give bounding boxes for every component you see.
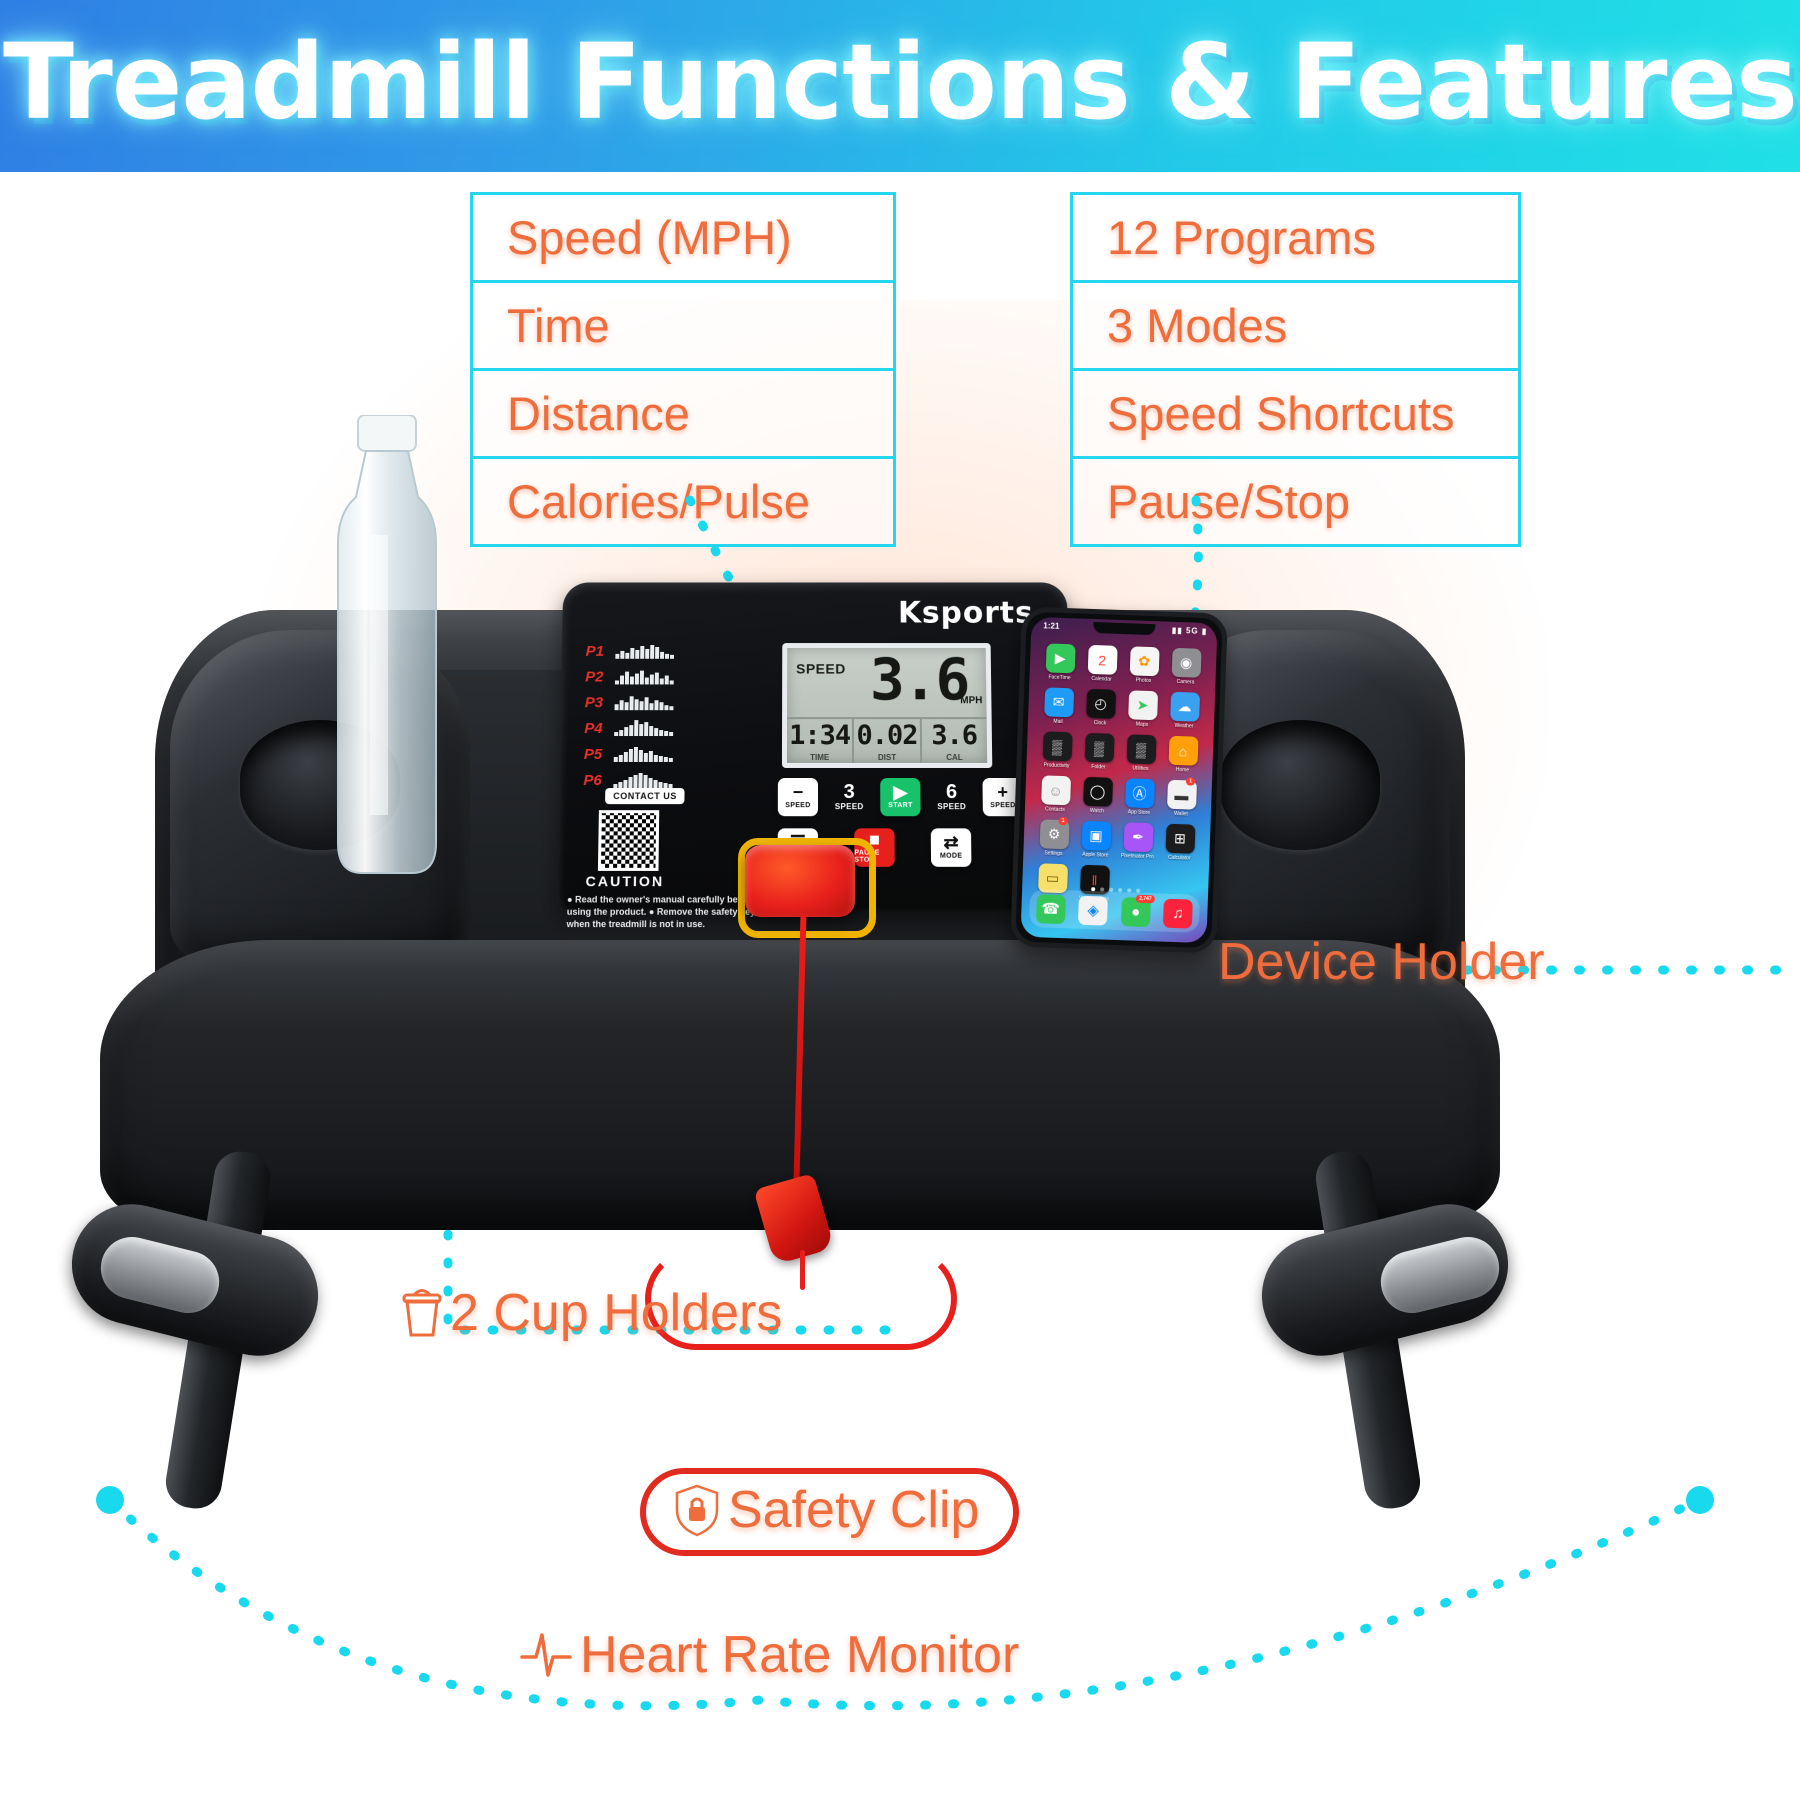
cup-holder-right [1220,720,1380,850]
app-label: Apple Store [1082,852,1108,859]
app-badge: 1 [1186,777,1195,785]
app-icon: Ⓐ [1125,778,1155,808]
minus-icon: − [793,785,804,800]
shield-lock-icon [672,1482,722,1538]
pulse-icon [518,1629,574,1681]
app-label: Photos [1136,678,1152,685]
lcd-speed-value: 3.6 [870,647,969,712]
program-row: P3 [585,690,735,714]
program-waveform-icon [614,746,673,762]
water-bottle [300,415,500,935]
phone-notch [1093,622,1155,635]
bottle-highlight [370,535,388,815]
mode-label: MODE [940,853,962,860]
speed-shortcut-6-value: 6 [946,783,957,802]
feature-row: Distance [473,371,893,459]
app-icon: ✿ [1129,646,1159,676]
speed-decrease-button[interactable]: − SPEED [778,778,818,816]
app-label: Productivity [1043,762,1069,769]
callout-device-holder: Device Holder [1218,932,1545,992]
phone-app-facetime[interactable]: ▶FaceTime [1038,643,1081,681]
caution-text: ● Read the owner's manual carefully befo… [566,893,759,930]
lcd-speed-label: SPEED [796,661,846,677]
program-row: P5 [584,742,734,766]
smartphone-device: 1:21 ▮▮ 5G ▮ ▶FaceTime2Calendar✿Photos◉C… [1010,607,1228,954]
lcd-secondary-readouts: 1:34 TIME 0.02 DIST 3.6 CAL [787,717,987,763]
phone-dock: ☎◈●2,747♫ [1029,889,1200,933]
bottle-cap [358,415,416,451]
app-label: Folder [1091,764,1105,770]
header-banner: Treadmill Functions & Features [0,0,1800,172]
program-profile-list: P1 P2 P3 P4 P5 [583,639,735,794]
phone-app-home[interactable]: ⌂Home [1161,735,1204,773]
feature-row: Speed Shortcuts [1073,371,1518,459]
program-id-label: P3 [585,694,615,711]
feature-row: Time [473,283,893,371]
program-id-label: P2 [585,668,615,685]
play-icon: ▶ [893,785,907,800]
app-icon: ▣ [1081,821,1111,851]
phone-app-watch[interactable]: ◯Watch [1076,777,1119,815]
dock-app-phone[interactable]: ☎ [1036,894,1066,924]
phone-screen: 1:21 ▮▮ 5G ▮ ▶FaceTime2Calendar✿Photos◉C… [1020,617,1217,943]
phone-app-settings[interactable]: ⚙1Settings [1032,819,1075,857]
cup-holders-label: 2 Cup Holders [450,1283,782,1343]
feature-table-right: 12 Programs 3 Modes Speed Shortcuts Paus… [1070,192,1521,547]
phone-app-wallet[interactable]: ▬1Wallet [1160,779,1203,817]
callout-cup-holders: 2 Cup Holders [400,1283,782,1343]
feature-row: Speed (MPH) [473,195,893,283]
feature-row: 12 Programs [1073,195,1518,283]
program-waveform-icon [615,694,674,710]
app-icon: ▶ [1045,643,1075,673]
speed-shortcut-6-label: SPEED [937,802,966,811]
app-label: Watch [1090,808,1104,814]
phone-app-weather[interactable]: ☁Weather [1163,692,1206,730]
app-icon: ☺ [1041,775,1071,805]
program-waveform-icon [614,720,673,736]
brand-logo: Ksports [898,596,1034,630]
speed-shortcut-3-button[interactable]: 3 SPEED [827,778,871,816]
lcd-calories-value: 3.6 [921,720,987,751]
app-icon: ◴ [1086,689,1116,719]
mode-button[interactable]: ⇄ MODE [931,828,972,867]
app-label: Contacts [1045,806,1065,813]
feature-row: Calories/Pulse [473,459,893,544]
app-label: App Store [1128,809,1150,816]
program-row: P2 [585,665,734,689]
program-id-label: P1 [586,643,616,660]
feature-row: 3 Modes [1073,283,1518,371]
app-label: Maps [1136,722,1148,728]
app-label: FaceTime [1048,674,1070,681]
app-icon: ➤ [1128,690,1158,720]
phone-signal-battery: ▮▮ 5G ▮ [1172,626,1208,636]
phone-app-calendar[interactable]: 2Calendar [1080,645,1123,683]
phone-app-apple-store[interactable]: ▣Apple Store [1074,821,1117,859]
program-waveform-icon [615,643,674,659]
phone-app-mail[interactable]: ✉Mail [1037,687,1080,725]
mode-icon: ⇄ [943,835,958,850]
app-label: Calculator [1168,855,1191,862]
dock-badge: 2,747 [1136,894,1155,903]
phone-clock: 1:21 [1043,621,1059,631]
heart-rate-label: Heart Rate Monitor [580,1625,1019,1685]
app-icon: ☁ [1170,692,1200,722]
program-row: P1 [585,639,734,663]
lcd-time-label: TIME [787,753,852,762]
app-label: Utilities [1132,765,1148,772]
lcd-distance-label: DIST [854,753,919,762]
plus-icon: + [997,785,1008,800]
lcd-distance-value: 0.02 [854,720,919,751]
app-icon: 2 [1087,645,1117,675]
speed-decrease-label: SPEED [785,802,810,809]
lcd-calories-label: CAL [922,753,987,762]
program-id-label: P5 [584,745,614,762]
page-title: Treadmill Functions & Features [0,26,1800,138]
infographic-canvas: Treadmill Functions & Features Speed (MP… [0,0,1800,1800]
lcd-cell-time: 1:34 TIME [787,719,854,763]
phone-app-clock[interactable]: ◴Clock [1079,689,1122,727]
connector-node-grip-right [1686,1486,1714,1514]
app-icon: ▒ [1126,734,1156,764]
safety-clip-label: Safety Clip [728,1480,979,1540]
contact-us-label: CONTACT US [605,788,685,804]
phone-app-maps[interactable]: ➤Maps [1121,690,1164,728]
program-id-label: P4 [584,720,614,737]
app-icon: ✒ [1123,822,1153,852]
speed-shortcut-6-button[interactable]: 6 SPEED [929,778,974,816]
lcd-display: SPEED 3.6 MPH 1:34 TIME 0.02 DIST 3.6 [782,643,992,768]
dock-app-messages[interactable]: ●2,747 [1121,897,1151,927]
safety-key [745,845,855,917]
app-icon: ✉ [1044,687,1074,717]
start-label: START [888,802,912,809]
app-label: Calendar [1091,676,1111,683]
app-label: Home [1176,767,1190,773]
app-icon: ▒ [1042,731,1072,761]
app-label: Settings [1044,850,1062,857]
app-icon: ⊞ [1165,824,1195,854]
feature-row: Pause/Stop [1073,459,1518,544]
start-button[interactable]: ▶ START [880,778,920,816]
app-label: Clock [1094,720,1107,726]
callout-heart-rate: Heart Rate Monitor [518,1625,1019,1685]
dock-app-safari[interactable]: ◈ [1078,895,1108,925]
phone-app-folder[interactable]: ▒Folder [1077,733,1120,771]
phone-app-grid: ▶FaceTime2Calendar✿Photos◉Camera✉Mail◴Cl… [1031,643,1208,913]
lcd-cell-distance: 0.02 DIST [854,719,922,763]
app-icon: ◉ [1171,648,1201,678]
lcd-cell-calories: 3.6 CAL [921,719,987,763]
program-waveform-icon [615,669,674,685]
app-label: Camera [1176,679,1194,686]
phone-app-pixelmator-pro[interactable]: ✒Pixelmator Pro [1116,822,1159,860]
phone-app-utilities[interactable]: ▒Utilities [1119,734,1162,772]
phone-app-productivity[interactable]: ▒Productivity [1035,731,1078,769]
phone-app-contacts[interactable]: ☺Contacts [1034,775,1077,813]
app-icon: ◯ [1083,777,1113,807]
callout-safety-clip: Safety Clip [640,1468,1019,1556]
app-label: Pixelmator Pro [1121,853,1154,860]
lcd-speed-unit: MPH [960,695,982,706]
speed-increase-label: SPEED [990,802,1015,809]
cup-icon [400,1287,444,1339]
device-holder-label: Device Holder [1218,932,1545,992]
feature-table-left: Speed (MPH) Time Distance Calories/Pulse [470,192,896,547]
app-icon: ▒ [1084,733,1114,763]
program-id-label: P6 [583,771,613,788]
dock-app-music[interactable]: ♫ [1163,898,1193,928]
app-badge: 1 [1059,817,1068,825]
program-row: P4 [584,716,734,740]
app-label: Mail [1053,719,1062,725]
caution-title: CAUTION [585,873,664,889]
app-label: Wallet [1174,811,1188,817]
speed-shortcut-3-label: SPEED [835,802,864,811]
speed-shortcut-3-value: 3 [844,783,855,802]
program-waveform-icon [613,772,672,788]
app-label: Weather [1174,723,1193,730]
phone-app-calculator[interactable]: ⊞Calculator [1158,823,1201,861]
app-icon: ⌂ [1168,736,1198,766]
lcd-time-value: 1:34 [787,720,852,751]
lcd-primary-readout: SPEED 3.6 MPH [787,648,987,719]
phone-app-camera[interactable]: ◉Camera [1164,648,1207,686]
phone-app-app-store[interactable]: ⒶApp Store [1118,778,1161,816]
phone-app-photos[interactable]: ✿Photos [1122,646,1165,684]
qr-code-icon [598,810,659,871]
